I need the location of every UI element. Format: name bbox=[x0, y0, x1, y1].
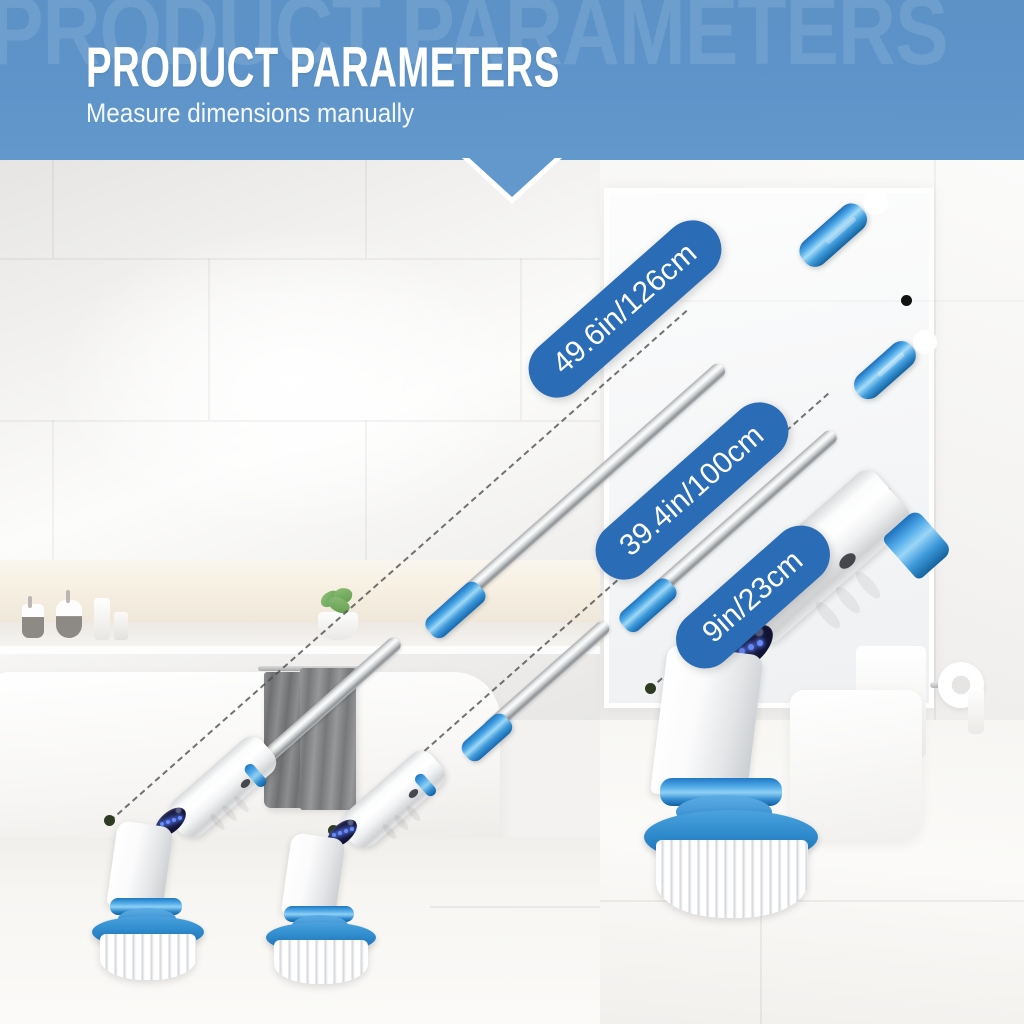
lotion-pump-nozzle bbox=[66, 590, 70, 603]
chevron-down-icon bbox=[467, 156, 557, 197]
brush-bristles bbox=[100, 934, 196, 980]
page-subtitle: Measure dimensions manually bbox=[86, 98, 414, 129]
led-dot bbox=[172, 818, 176, 822]
led-dot bbox=[757, 640, 763, 646]
tile-grout-line bbox=[0, 420, 600, 422]
toilet-paper-sheet bbox=[968, 690, 984, 734]
hang-hole-icon bbox=[913, 330, 937, 354]
hang-hole-icon bbox=[863, 190, 888, 215]
product-parameters-infographic: 49.6in/126cm 39.4in/100cm 9in/23cm PRODU… bbox=[0, 0, 1024, 1024]
led-dot bbox=[178, 816, 182, 820]
lotion-bottle bbox=[56, 600, 82, 638]
tile-grout-line bbox=[52, 160, 54, 258]
led-dot bbox=[338, 831, 342, 835]
toiletry-cup bbox=[114, 612, 128, 640]
tile-grout-line bbox=[520, 258, 522, 420]
brush-bristles bbox=[274, 940, 368, 984]
page-title: PRODUCT PARAMETERS bbox=[86, 36, 560, 101]
power-button-icon[interactable] bbox=[176, 808, 181, 813]
led-dot bbox=[748, 644, 754, 650]
tile-grout-line bbox=[52, 420, 54, 560]
measure-endpoint-dot bbox=[901, 295, 912, 306]
measure-endpoint-dot bbox=[645, 683, 656, 694]
tile-grout-line bbox=[365, 420, 367, 560]
toiletry-tube bbox=[94, 598, 110, 640]
tile-grout-line bbox=[208, 258, 210, 420]
tile-grout-line bbox=[365, 160, 367, 258]
window-frame bbox=[604, 188, 934, 193]
floor-grout-line bbox=[430, 906, 600, 908]
soap-dispenser bbox=[22, 604, 44, 638]
led-dot bbox=[350, 827, 354, 831]
led-dot bbox=[344, 829, 348, 833]
floor-grout-line bbox=[600, 900, 1024, 902]
led-dot bbox=[332, 833, 336, 837]
soap-pump-nozzle bbox=[28, 596, 32, 608]
measure-endpoint-dot bbox=[104, 815, 115, 826]
led-dot bbox=[166, 820, 170, 824]
header-banner: PRODUCT PARAMETERS PRODUCT PARAMETERS Me… bbox=[0, 0, 1024, 160]
power-button-icon[interactable] bbox=[348, 820, 353, 825]
tile-grout-line bbox=[0, 258, 600, 260]
tile-grout-line bbox=[934, 160, 936, 720]
vanity-counter bbox=[0, 560, 600, 622]
toilet bbox=[790, 690, 922, 840]
header-chevron-notch bbox=[462, 158, 562, 206]
vanity-cabinet bbox=[0, 622, 600, 648]
brush-bristles bbox=[656, 840, 808, 918]
wall-light-glow bbox=[60, 230, 520, 530]
